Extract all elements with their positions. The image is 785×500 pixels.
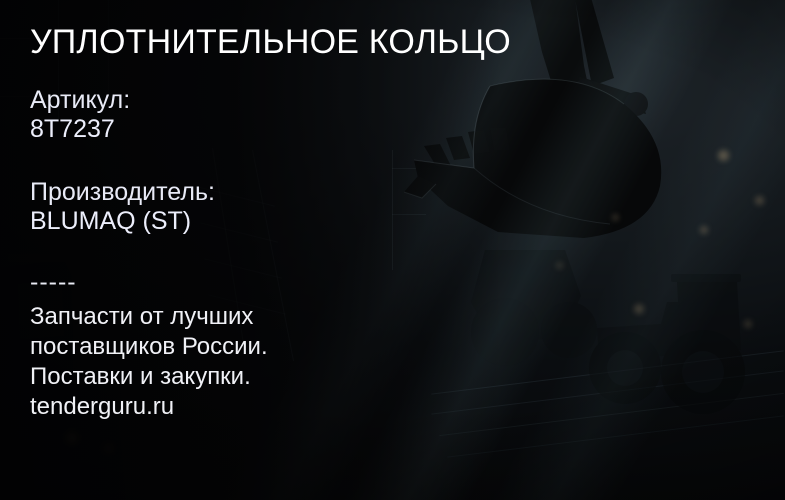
field-article-value: 8T7237 <box>30 115 130 144</box>
field-manufacturer: Производитель: BLUMAQ (ST) <box>30 178 215 236</box>
promo-line-1: Запчасти от лучших <box>30 302 268 332</box>
divider-dashes: ----- <box>30 272 77 292</box>
field-manufacturer-label: Производитель: <box>30 178 215 207</box>
banner-content: УПЛОТНИТЕЛЬНОЕ КОЛЬЦО Артикул: 8T7237 Пр… <box>30 0 590 500</box>
field-article-label: Артикул: <box>30 86 130 115</box>
promo-block: Запчасти от лучших поставщиков России. П… <box>30 302 268 422</box>
product-title: УПЛОТНИТЕЛЬНОЕ КОЛЬЦО <box>30 22 511 62</box>
promo-line-3: Поставки и закупки. <box>30 362 268 392</box>
product-banner: УПЛОТНИТЕЛЬНОЕ КОЛЬЦО Артикул: 8T7237 Пр… <box>0 0 785 500</box>
field-article: Артикул: 8T7237 <box>30 86 130 144</box>
promo-line-2: поставщиков России. <box>30 332 268 362</box>
field-manufacturer-value: BLUMAQ (ST) <box>30 207 215 236</box>
promo-website: tenderguru.ru <box>30 392 268 422</box>
